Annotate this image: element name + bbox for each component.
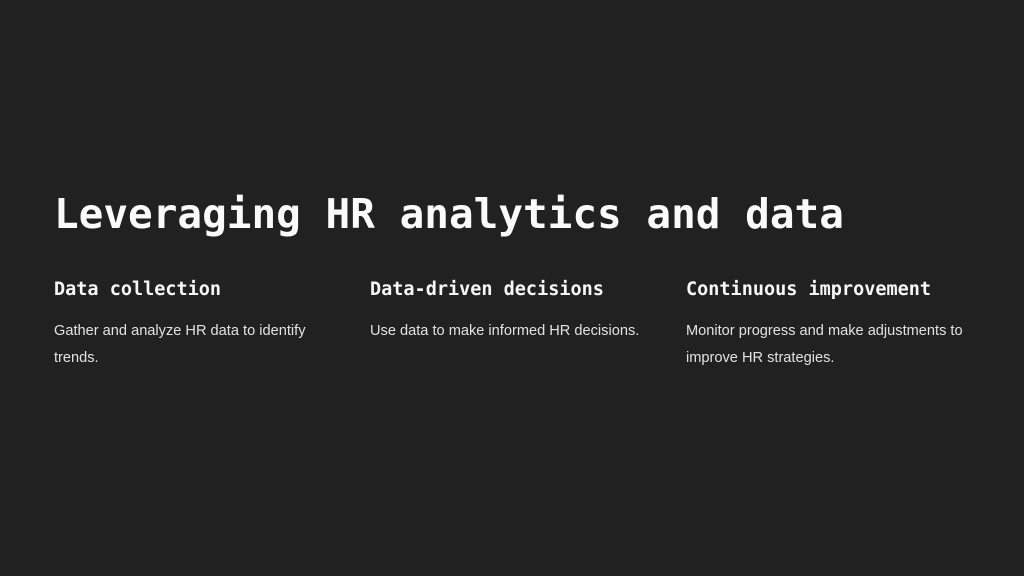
three-column-layout: Data collection Gather and analyze HR da…: [54, 278, 999, 372]
column-data-driven-decisions: Data-driven decisions Use data to make i…: [370, 278, 660, 345]
column-body-text: Monitor progress and make adjustments to…: [686, 318, 976, 372]
column-heading: Data collection: [54, 278, 344, 302]
column-body-text: Use data to make informed HR decisions.: [370, 318, 660, 345]
column-heading: Continuous improvement: [686, 278, 976, 302]
column-data-collection: Data collection Gather and analyze HR da…: [54, 278, 344, 372]
page-title: Leveraging HR analytics and data: [54, 189, 984, 239]
column-heading: Data-driven decisions: [370, 278, 660, 302]
presentation-slide: Leveraging HR analytics and data Data co…: [0, 0, 1024, 576]
column-body-text: Gather and analyze HR data to identify t…: [54, 318, 344, 372]
column-continuous-improvement: Continuous improvement Monitor progress …: [686, 278, 976, 372]
